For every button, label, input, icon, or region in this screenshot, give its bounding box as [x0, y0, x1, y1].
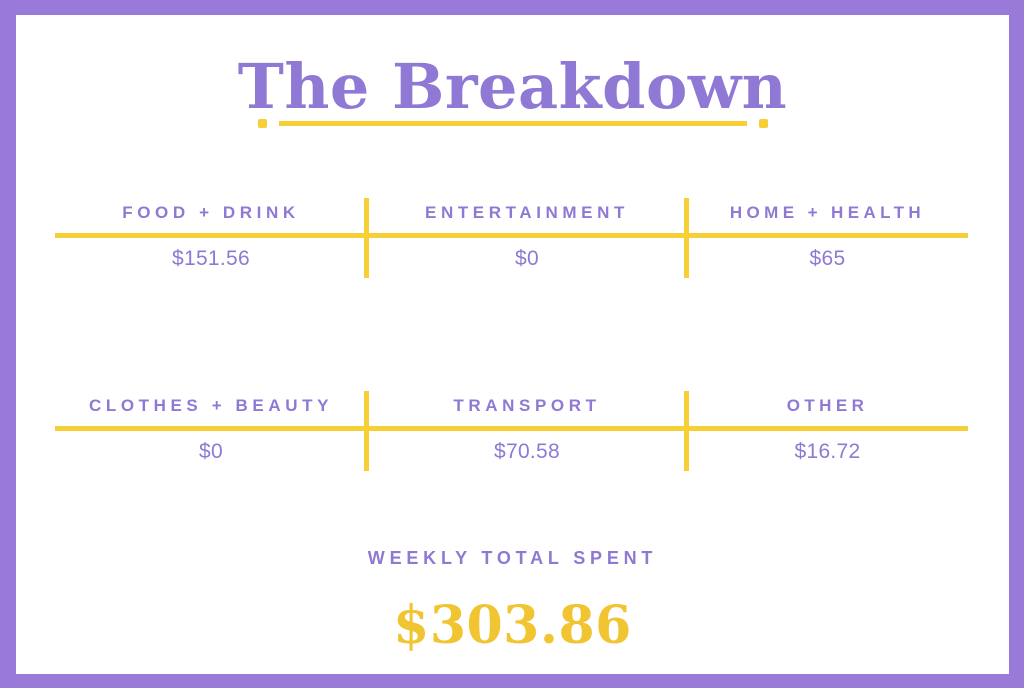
category-label: OTHER — [687, 396, 968, 416]
dot-icon-right — [759, 119, 768, 128]
category-cell-home-health[interactable]: HOME + HEALTH $65 — [687, 186, 968, 278]
category-cell-entertainment[interactable]: ENTERTAINMENT $0 — [367, 186, 687, 278]
category-label: TRANSPORT — [367, 396, 687, 416]
breakdown-row: FOOD + DRINK $151.56 ENTERTAINMENT $0 HO… — [55, 186, 968, 278]
category-cell-clothes-beauty[interactable]: CLOTHES + BEAUTY $0 — [55, 379, 367, 471]
breakdown-cells: FOOD + DRINK $151.56 ENTERTAINMENT $0 HO… — [55, 186, 968, 278]
category-amount: $151.56 — [55, 247, 367, 271]
breakdown-cells: CLOTHES + BEAUTY $0 TRANSPORT $70.58 OTH… — [55, 379, 968, 471]
divider-line — [279, 121, 747, 126]
total-amount: $303.86 — [16, 595, 1009, 657]
poster-canvas: The Breakdown FOOD + DRINK $151.56 ENTER… — [16, 15, 1009, 674]
page-title: The Breakdown — [16, 51, 1009, 123]
category-label: ENTERTAINMENT — [367, 203, 687, 223]
breakdown-row: CLOTHES + BEAUTY $0 TRANSPORT $70.58 OTH… — [55, 379, 968, 471]
category-amount: $0 — [367, 247, 687, 271]
category-cell-other[interactable]: OTHER $16.72 — [687, 379, 968, 471]
total-label-row: WEEKLY TOTAL SPENT — [16, 548, 1009, 569]
total-block: WEEKLY TOTAL SPENT $303.86 — [16, 518, 1009, 668]
category-label: CLOTHES + BEAUTY — [55, 396, 367, 416]
title-divider — [16, 115, 1009, 131]
dot-icon-left — [258, 119, 267, 128]
category-amount: $70.58 — [367, 440, 687, 464]
category-cell-food-drink[interactable]: FOOD + DRINK $151.56 — [55, 186, 367, 278]
category-label: FOOD + DRINK — [55, 203, 367, 223]
category-amount: $65 — [687, 247, 968, 271]
category-label: HOME + HEALTH — [687, 203, 968, 223]
total-label: WEEKLY TOTAL SPENT — [368, 548, 657, 569]
poster-frame: The Breakdown FOOD + DRINK $151.56 ENTER… — [0, 0, 1024, 688]
category-amount: $16.72 — [687, 440, 968, 464]
category-amount: $0 — [55, 440, 367, 464]
category-cell-transport[interactable]: TRANSPORT $70.58 — [367, 379, 687, 471]
title-block: The Breakdown — [16, 51, 1009, 123]
